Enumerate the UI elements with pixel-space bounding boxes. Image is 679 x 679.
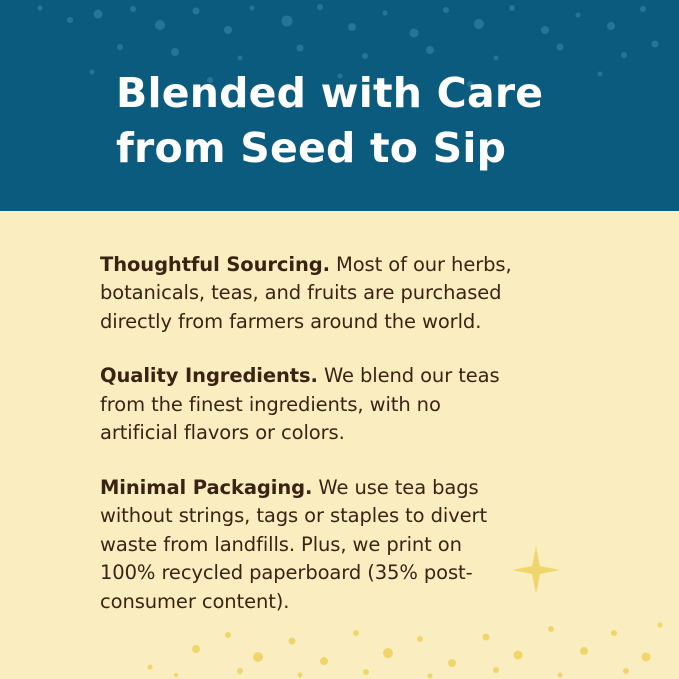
- list-item: Minimal Packaging. We use tea bags witho…: [0, 474, 679, 616]
- card-header: Blended with Care from Seed to Sip: [0, 0, 679, 211]
- card-body: Thoughtful Sourcing. Most of our herbs, …: [0, 211, 679, 679]
- product-info-card: Blended with Care from Seed to Sip: [0, 0, 679, 679]
- feature-text: Thoughtful Sourcing. Most of our herbs, …: [100, 251, 520, 336]
- feature-heading: Thoughtful Sourcing.: [100, 253, 330, 276]
- feature-text: Quality Ingredients. We blend our teas f…: [100, 362, 520, 447]
- feature-heading: Minimal Packaging.: [100, 476, 312, 499]
- leaf-sprout-icon: [0, 362, 100, 414]
- page-title: Blended with Care from Seed to Sip: [116, 66, 639, 175]
- feature-heading: Quality Ingredients.: [100, 364, 318, 387]
- list-item: Thoughtful Sourcing. Most of our herbs, …: [0, 251, 679, 336]
- feature-text: Minimal Packaging. We use tea bags witho…: [100, 474, 520, 616]
- feature-list: Thoughtful Sourcing. Most of our herbs, …: [0, 211, 679, 642]
- barn-icon: [0, 251, 100, 303]
- tea-bag-cup-icon: [0, 474, 100, 538]
- list-item: Quality Ingredients. We blend our teas f…: [0, 362, 679, 447]
